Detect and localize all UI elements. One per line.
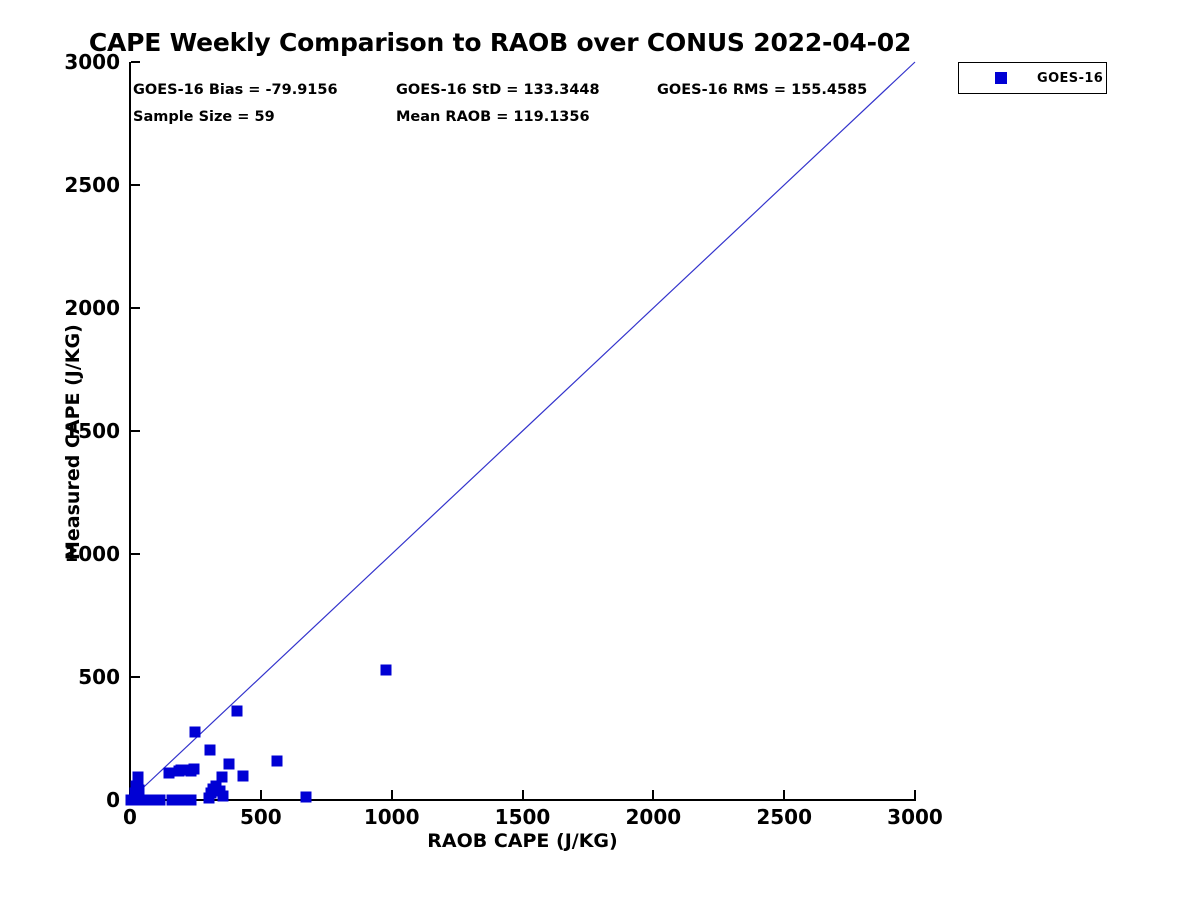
legend-label-goes-16: GOES-16 (1037, 71, 1103, 86)
scatter-point (189, 764, 200, 775)
scatter-point (185, 795, 196, 806)
scatter-point (190, 727, 201, 738)
scatter-point (217, 771, 228, 782)
x-tick-label-0: 0 (123, 805, 137, 829)
stat-sample-size: Sample Size = 59 (133, 109, 275, 125)
scatter-point (134, 785, 145, 796)
x-tick-label-2500: 2500 (756, 805, 812, 829)
y-tick-label-0: 0 (106, 788, 120, 812)
y-axis-label: Measured CAPE (J/KG) (62, 324, 84, 560)
y-tick-label-2500: 2500 (64, 173, 120, 197)
legend-swatch-goes-16 (995, 72, 1007, 84)
scatter-point (231, 705, 242, 716)
y-tick-label-500: 500 (78, 665, 120, 689)
scatter-point (238, 771, 249, 782)
scatter-point (218, 790, 229, 801)
x-tick-label-3000: 3000 (887, 805, 943, 829)
scatter-point (204, 744, 215, 755)
one-to-one-reference-line (130, 62, 915, 800)
x-axis-label: RAOB CAPE (J/KG) (130, 830, 915, 852)
scatter-point (380, 664, 391, 675)
y-tick-label-2000: 2000 (64, 296, 120, 320)
scatter-point (132, 771, 143, 782)
scatter-point (223, 758, 234, 769)
stat-rms: GOES-16 RMS = 155.4585 (657, 82, 867, 98)
scatter-point (300, 792, 311, 803)
page-title: CAPE Weekly Comparison to RAOB over CONU… (0, 28, 1000, 57)
stat-bias: GOES-16 Bias = -79.9156 (133, 82, 338, 98)
legend[interactable]: GOES-16 (958, 62, 1107, 94)
scatter-point (271, 755, 282, 766)
plot-area (130, 62, 915, 800)
stat-std: GOES-16 StD = 133.3448 (396, 82, 600, 98)
stat-mean-raob: Mean RAOB = 119.1356 (396, 109, 590, 125)
y-tick-label-3000: 3000 (64, 50, 120, 74)
x-tick-label-1000: 1000 (364, 805, 420, 829)
scatter-point (155, 795, 166, 806)
x-tick-label-2000: 2000 (625, 805, 681, 829)
chart-figure: CAPE Weekly Comparison to RAOB over CONU… (0, 0, 1200, 900)
x-tick-label-500: 500 (240, 805, 282, 829)
x-tick-label-1500: 1500 (495, 805, 551, 829)
